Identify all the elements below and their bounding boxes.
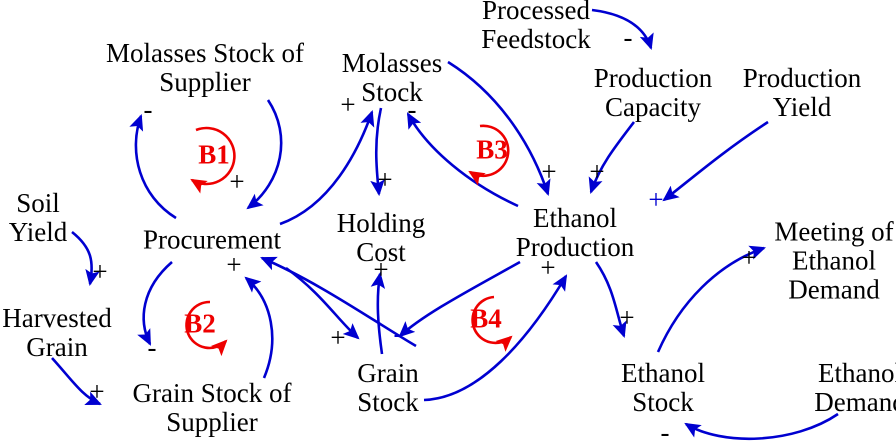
node-molasses-stock-supplier: Molasses Stock of Supplier xyxy=(106,39,304,97)
sign-holding-cost-plus: + xyxy=(377,167,392,194)
loop-label-b3: B3 xyxy=(476,137,508,164)
sign-grain-stock-supplier-to-procurement-plus: + xyxy=(226,252,241,279)
link-production-yield-to-ethanol-production xyxy=(664,122,768,200)
loop-label-b1: B1 xyxy=(198,142,230,169)
sign-meeting-demand-plus: + xyxy=(741,245,756,272)
sign-grain-stock-out-minus: - xyxy=(394,321,403,348)
node-procurement: Procurement xyxy=(143,226,281,255)
sign-harvested-grain-plus: + xyxy=(89,379,104,406)
sign-ethanol-production-left-plus: + xyxy=(541,159,556,186)
sign-molasses-stock-minus: - xyxy=(408,97,417,124)
node-ethanol-demand: Ethanol Demand xyxy=(814,359,896,417)
sign-soil-yield-plus: + xyxy=(92,259,107,286)
sign-production-yield-plus: + xyxy=(648,187,663,214)
sign-grain-stock-holding-plus: + xyxy=(373,257,388,284)
sign-production-capacity-plus: + xyxy=(589,159,604,186)
sign-processed-feedstock-minus: - xyxy=(624,25,633,52)
causal-loop-diagram: Molasses Stock of Supplier Molasses Stoc… xyxy=(0,0,896,447)
sign-ethanol-stock-plus: + xyxy=(619,305,634,332)
link-grain-stock-to-ethanol-production xyxy=(424,276,566,400)
node-processed-feedstock: Processed Feedstock xyxy=(481,0,590,54)
link-processed-feedstock-to-production-capacity xyxy=(592,10,651,48)
link-procurement-to-molasses-stock-supplier xyxy=(136,116,176,218)
sign-procurement-to-grain-supplier-minus: - xyxy=(148,335,157,362)
link-molasses-stock-to-ethanol-production xyxy=(448,62,548,194)
sign-procurement-to-molasses-supplier-plus: + xyxy=(229,169,244,196)
link-ethanol-demand-to-ethanol-stock xyxy=(686,414,838,439)
loop-label-b4: B4 xyxy=(470,306,502,333)
sign-grain-stock-in-plus: + xyxy=(330,325,345,352)
node-meeting-of-ethanol-demand: Meeting of Ethanol Demand xyxy=(774,218,893,305)
sign-molasses-supplier-minus: - xyxy=(144,97,153,124)
link-procurement-to-grain-stock xyxy=(286,268,358,338)
link-soil-yield-to-harvested-grain xyxy=(72,232,92,284)
node-soil-yield: Soil Yield xyxy=(9,189,68,247)
node-ethanol-stock: Ethanol Stock xyxy=(621,359,705,417)
node-production-yield: Production Yield xyxy=(743,64,862,122)
node-grain-stock: Grain Stock xyxy=(357,359,419,417)
link-ethanol-production-to-grain-stock xyxy=(400,262,520,336)
sign-molasses-stock-plus: + xyxy=(340,92,355,119)
sign-ethanol-demand-minus: - xyxy=(661,420,670,447)
node-grain-stock-supplier: Grain Stock of Supplier xyxy=(133,379,292,437)
node-production-capacity: Production Capacity xyxy=(594,64,713,122)
node-ethanol-production: Ethanol Production xyxy=(516,204,635,262)
node-harvested-grain: Harvested Grain xyxy=(2,304,111,362)
node-molasses-stock: Molasses Stock xyxy=(342,49,443,107)
link-grain-stock-to-holding-cost xyxy=(378,274,382,354)
link-molasses-stock-supplier-to-procurement xyxy=(248,100,281,208)
sign-ethanol-production-in-plus: + xyxy=(540,255,555,282)
loop-label-b2: B2 xyxy=(184,311,216,338)
link-grain-stock-supplier-to-procurement xyxy=(246,278,272,378)
